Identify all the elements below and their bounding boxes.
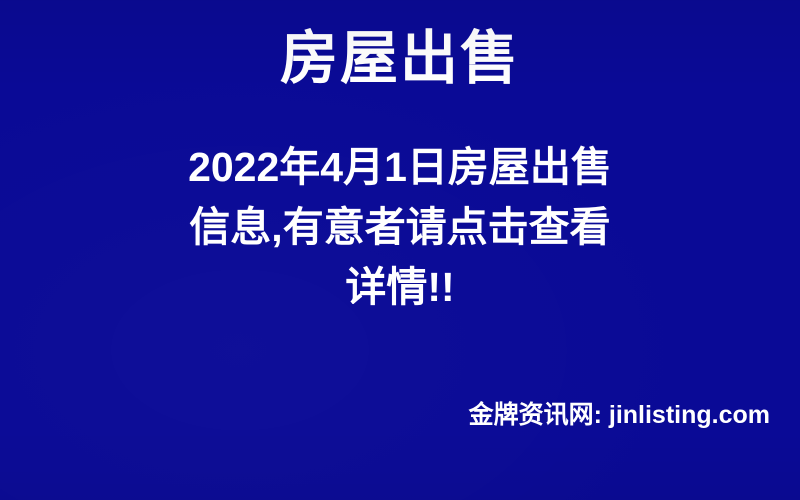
poster-canvas: 房屋出售 2022年4月1日房屋出售 信息,有意者请点击查看 详情!! 金牌资讯… <box>0 0 800 500</box>
footer-site-url: jinlisting.com <box>609 401 770 429</box>
footer-site-name: 金牌资讯网: <box>469 401 602 429</box>
announcement-body: 2022年4月1日房屋出售 信息,有意者请点击查看 详情!! <box>0 137 800 317</box>
announcement-line-3: 详情!! <box>0 257 800 317</box>
announcement-line-1: 2022年4月1日房屋出售 <box>0 137 800 197</box>
announcement-line-2: 信息,有意者请点击查看 <box>0 197 800 257</box>
footer-credit: 金牌资讯网: jinlisting.com <box>0 399 800 431</box>
page-title: 房屋出售 <box>0 24 800 94</box>
